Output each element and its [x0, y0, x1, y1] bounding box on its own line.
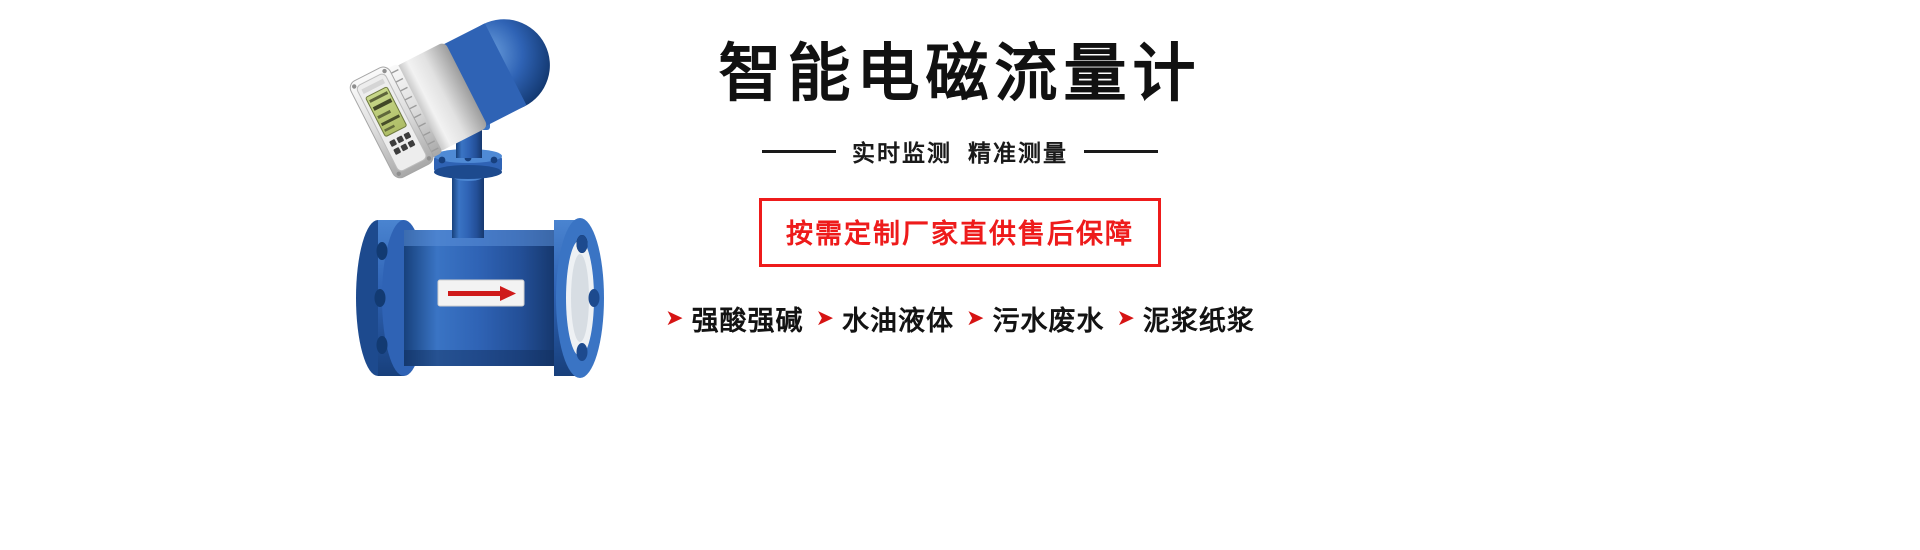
feature-item-3: ➤ 污水废水: [966, 299, 1104, 338]
feature-item-4: ➤ 泥浆纸浆: [1116, 299, 1254, 338]
subtitle-right: 精准测量: [968, 134, 1068, 168]
feature-item-1: ➤ 强酸强碱: [665, 299, 803, 338]
subtitle-rule-right: [1084, 150, 1158, 153]
feature-label-1: 强酸强碱: [692, 299, 804, 338]
feature-label-4: 泥浆纸浆: [1143, 299, 1255, 338]
promo-item-2: 厂家直供: [902, 219, 1018, 249]
subtitle-row: 实时监测 精准测量: [610, 134, 1310, 168]
feature-label-3: 污水废水: [992, 299, 1104, 338]
feature-label-2: 水油液体: [842, 299, 954, 338]
subtitle-rule-left: [762, 150, 836, 153]
promo-item-3: 售后保障: [1018, 219, 1134, 249]
promo-box: 按需定制厂家直供售后保障: [759, 198, 1161, 267]
product-banner: 智能电磁流量计 实时监测 精准测量 按需定制厂家直供售后保障 ➤ 强酸强碱 ➤ …: [0, 0, 1920, 550]
banner-content: 智能电磁流量计 实时监测 精准测量 按需定制厂家直供售后保障 ➤ 强酸强碱 ➤ …: [610, 40, 1310, 338]
feature-item-2: ➤ 水油液体: [816, 299, 954, 338]
page-title: 智能电磁流量计: [610, 40, 1310, 108]
flowmeter-body: [356, 218, 604, 378]
arrow-right-icon: ➤: [816, 307, 834, 329]
arrow-right-icon: ➤: [1116, 307, 1134, 329]
promo-item-1: 按需定制: [786, 219, 902, 249]
subtitle-left: 实时监测: [852, 134, 952, 168]
arrow-right-icon: ➤: [665, 307, 683, 329]
arrow-right-icon: ➤: [966, 307, 984, 329]
feature-list: ➤ 强酸强碱 ➤ 水油液体 ➤ 污水废水 ➤ 泥浆纸浆: [610, 299, 1310, 338]
